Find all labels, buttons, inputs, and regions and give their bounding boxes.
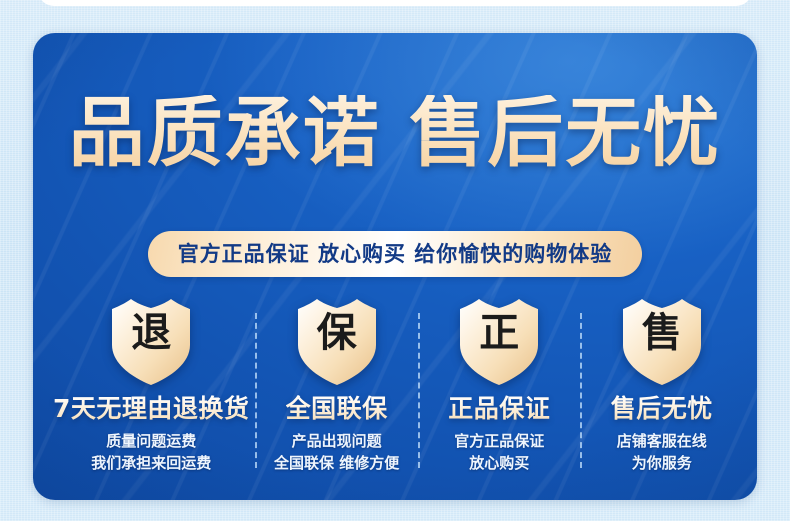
shield-glyph: 退 <box>109 313 193 353</box>
shield-aftersale-icon: 售 <box>620 295 704 387</box>
guarantee-badge-authentic: 正 正品保证 官方正品保证 放心购买 <box>418 295 581 474</box>
badge-title: 7天无理由退换货 <box>53 395 249 424</box>
badge-subtext: 官方正品保证 放心购买 <box>454 431 544 475</box>
subtitle-pill-wrap: 官方正品保证 放心购买 给你愉快的购物体验 <box>33 231 757 277</box>
badge-subtext-line1: 产品出现问题 <box>274 431 399 453</box>
shield-authentic-icon: 正 <box>457 295 541 387</box>
shield-return-icon: 退 <box>109 295 193 387</box>
promo-banner-stage: 品质承诺 售后无忧 官方正品保证 放心购买 给你愉快的购物体验 <box>0 0 790 521</box>
badge-subtext: 质量问题运费 我们承担来回运费 <box>91 431 211 475</box>
badge-subtext-line1: 质量问题运费 <box>91 431 211 453</box>
badge-subtext-line1: 官方正品保证 <box>454 431 544 453</box>
badge-title: 全国联保 <box>286 395 388 424</box>
badge-subtext-line1: 店铺客服在线 <box>617 431 707 453</box>
guarantee-badge-aftersale: 售 售后无忧 店铺客服在线 为你服务 <box>580 295 743 474</box>
top-white-strip <box>38 0 752 6</box>
guarantee-badge-warranty: 保 全国联保 产品出现问题 全国联保 维修方便 <box>255 295 418 474</box>
page-title: 品质承诺 售后无忧 <box>33 95 757 171</box>
badge-subtext: 产品出现问题 全国联保 维修方便 <box>274 431 399 475</box>
badge-subtext: 店铺客服在线 为你服务 <box>617 431 707 475</box>
badge-subtext-line2: 我们承担来回运费 <box>91 453 211 475</box>
badge-title: 售后无忧 <box>611 395 713 424</box>
shield-warranty-icon: 保 <box>295 295 379 387</box>
blue-promo-panel: 品质承诺 售后无忧 官方正品保证 放心购买 给你愉快的购物体验 <box>33 33 757 500</box>
shield-glyph: 售 <box>620 313 704 353</box>
shield-glyph: 保 <box>295 313 379 353</box>
badge-subtext-line2: 为你服务 <box>617 453 707 475</box>
badge-subtext-line2: 全国联保 维修方便 <box>274 453 399 475</box>
badge-subtext-line2: 放心购买 <box>454 453 544 475</box>
guarantee-badges-row: 退 7天无理由退换货 质量问题运费 我们承担来回运费 <box>47 295 743 474</box>
subtitle-pill: 官方正品保证 放心购买 给你愉快的购物体验 <box>148 231 643 277</box>
shield-glyph: 正 <box>457 313 541 353</box>
badge-title: 正品保证 <box>448 395 550 424</box>
guarantee-badge-return: 退 7天无理由退换货 质量问题运费 我们承担来回运费 <box>47 295 255 474</box>
